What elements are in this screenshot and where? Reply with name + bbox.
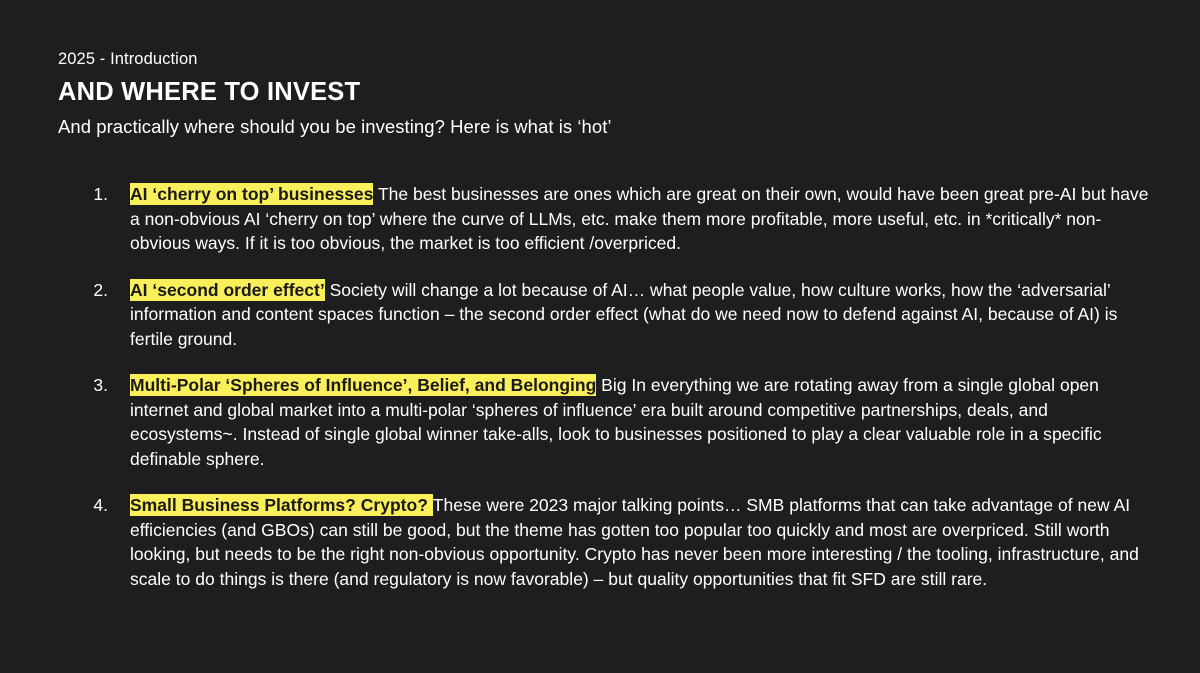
list-item: 3. Multi-Polar ‘Spheres of Influence’, B… — [58, 373, 1156, 471]
list-item-body: AI ‘second order effect’ Society will ch… — [130, 278, 1156, 352]
list-item-body: AI ‘cherry on top’ businesses The best b… — [130, 182, 1156, 256]
list-item: 4. Small Business Platforms? Crypto? The… — [58, 493, 1156, 591]
list-item: 1. AI ‘cherry on top’ businesses The bes… — [58, 182, 1156, 256]
list-item-highlight: AI ‘second order effect’ — [130, 279, 325, 301]
page-title: AND WHERE TO INVEST — [58, 76, 1148, 108]
list-item-number: 1. — [82, 182, 108, 207]
slide-subtitle: And practically where should you be inve… — [58, 114, 1148, 140]
list-item-number: 3. — [82, 373, 108, 398]
slide-header: 2025 - Introduction AND WHERE TO INVEST … — [58, 48, 1148, 140]
list-item-highlight: AI ‘cherry on top’ businesses — [130, 183, 373, 205]
list-item-highlight: Multi-Polar ‘Spheres of Influence’, Beli… — [130, 374, 596, 396]
list-item-number: 2. — [82, 278, 108, 303]
slide-eyebrow: 2025 - Introduction — [58, 48, 1148, 70]
list-item-highlight: Small Business Platforms? Crypto? — [130, 494, 433, 516]
list-item-body: Multi-Polar ‘Spheres of Influence’, Beli… — [130, 373, 1156, 471]
list-item: 2. AI ‘second order effect’ Society will… — [58, 278, 1156, 352]
numbered-list: 1. AI ‘cherry on top’ businesses The bes… — [58, 182, 1156, 591]
list-item-number: 4. — [82, 493, 108, 518]
slide: 2025 - Introduction AND WHERE TO INVEST … — [0, 0, 1200, 673]
list-item-body: Small Business Platforms? Crypto? These … — [130, 493, 1156, 591]
